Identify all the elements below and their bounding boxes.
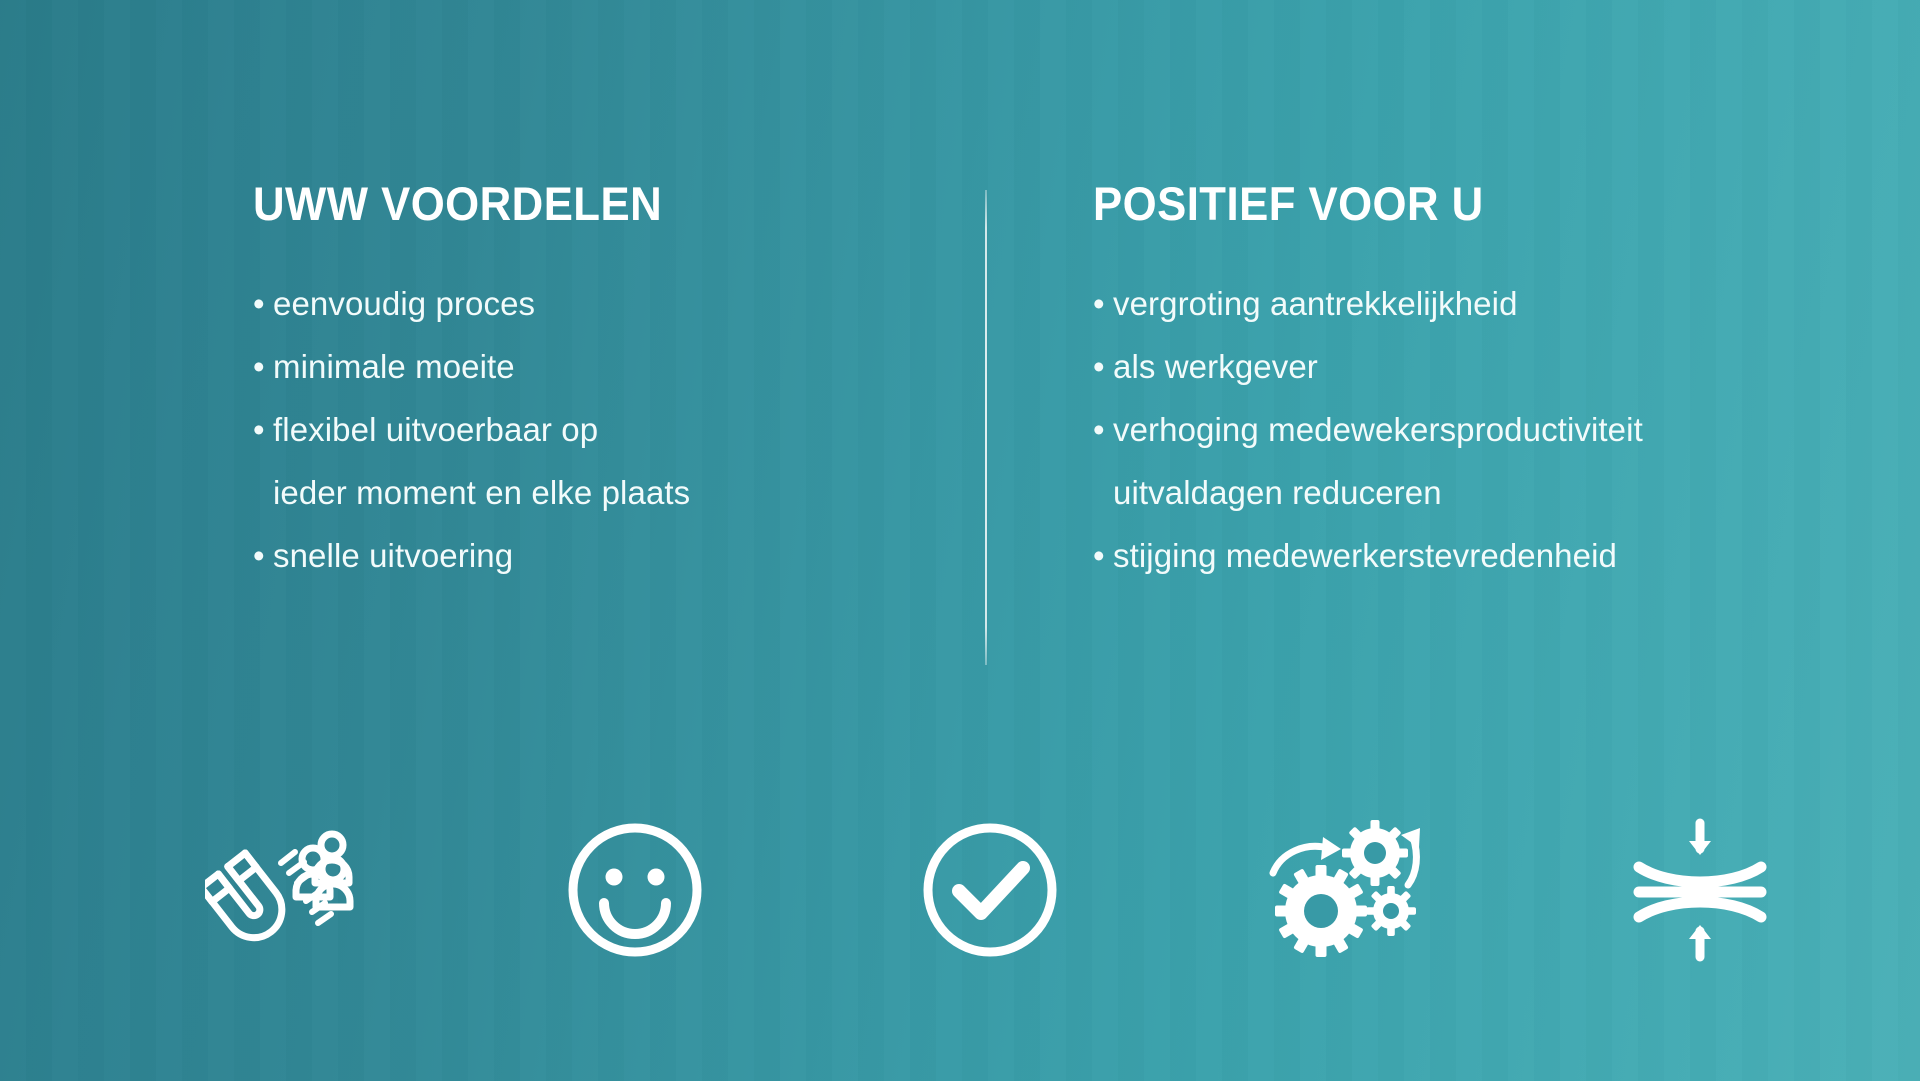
compression-flexibility-icon [1625, 815, 1775, 965]
magnet-attracting-people-icon [205, 815, 355, 965]
list-item-label: verhoging medewekersproductiviteit [1113, 398, 1643, 461]
list-item-label: ieder moment en elke plaats [273, 461, 690, 524]
list-item-label: uitvaldagen reduceren [1113, 461, 1442, 524]
bullet-marker-icon: • [1093, 398, 1113, 461]
list-item: • stijging medewerkerstevredenheid [1093, 524, 1793, 587]
list-item: • minimale moeite [253, 335, 893, 398]
bullet-marker-icon: • [253, 272, 273, 335]
bullet-marker-icon: • [253, 335, 273, 398]
list-item: • flexibel uitvoerbaar op [253, 398, 893, 461]
slide-canvas: UWW VOORDELEN • eenvoudig proces • minim… [0, 0, 1920, 1081]
list-item: • vergroting aantrekkelijkheid [1093, 272, 1793, 335]
list-item-label: als werkgever [1113, 335, 1318, 398]
list-item-label: minimale moeite [273, 335, 515, 398]
list-item-label: flexibel uitvoerbaar op [273, 398, 598, 461]
list-item-label: snelle uitvoering [273, 524, 513, 587]
bullet-marker-icon: • [1093, 524, 1113, 587]
list-item-label: vergroting aantrekkelijkheid [1113, 272, 1518, 335]
list-item-continuation: ieder moment en elke plaats [253, 461, 893, 524]
icon-cell-gears [1245, 800, 1445, 980]
column-left-title: UWW VOORDELEN [253, 178, 848, 230]
list-item-continuation: uitvaldagen reduceren [1093, 461, 1793, 524]
bullet-marker-icon: • [1093, 272, 1113, 335]
smiley-face-icon [560, 815, 710, 965]
list-item: • snelle uitvoering [253, 524, 893, 587]
column-divider [985, 190, 987, 665]
bullet-marker-icon: • [253, 524, 273, 587]
icon-cell-smiley [535, 800, 735, 980]
list-item-label: eenvoudig proces [273, 272, 535, 335]
column-right: POSITIEF VOOR U • vergroting aantrekkeli… [1093, 178, 1793, 587]
icon-cell-magnet [180, 800, 380, 980]
bullet-marker-icon: • [253, 398, 273, 461]
column-right-bullet-list: • vergroting aantrekkelijkheid • als wer… [1093, 272, 1793, 587]
icon-row [180, 790, 1800, 990]
check-circle-icon [915, 815, 1065, 965]
column-left: UWW VOORDELEN • eenvoudig proces • minim… [253, 178, 893, 587]
column-right-title: POSITIEF VOOR U [1093, 178, 1744, 230]
gears-productivity-icon [1265, 815, 1425, 965]
icon-cell-compression [1600, 800, 1800, 980]
icon-cell-check [890, 800, 1090, 980]
list-item: • verhoging medewekersproductiviteit [1093, 398, 1793, 461]
list-item: • eenvoudig proces [253, 272, 893, 335]
bullet-marker-icon: • [1093, 335, 1113, 398]
list-item-label: stijging medewerkerstevredenheid [1113, 524, 1617, 587]
column-left-bullet-list: • eenvoudig proces • minimale moeite • f… [253, 272, 893, 587]
list-item: • als werkgever [1093, 335, 1793, 398]
